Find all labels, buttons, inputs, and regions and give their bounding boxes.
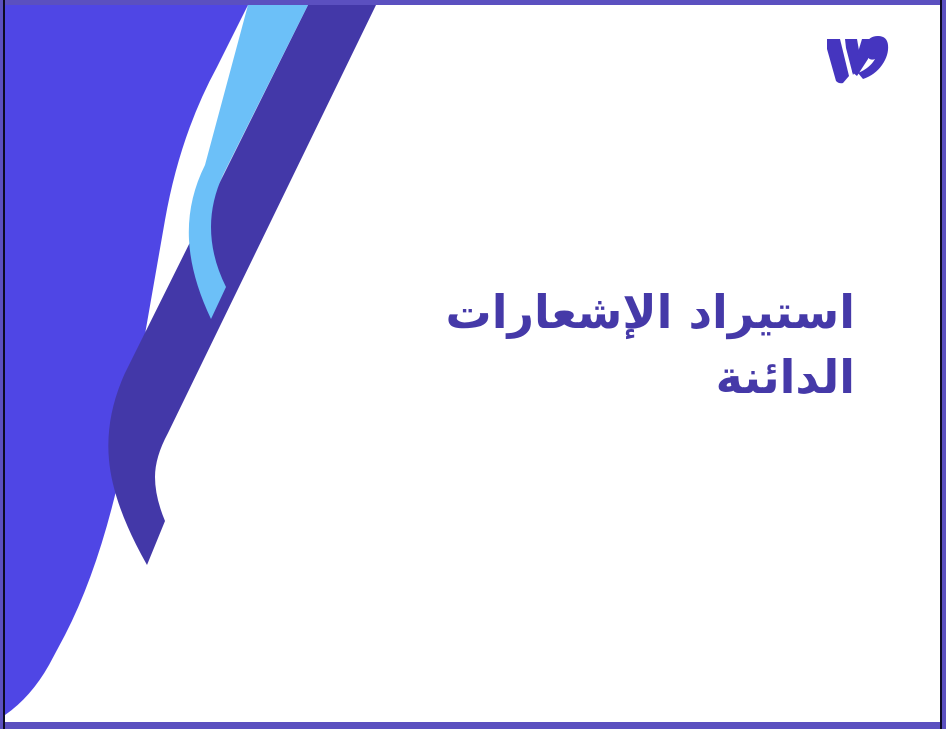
shape-sky-accent [189,5,308,319]
brand-logo-icon [824,32,890,88]
slide-frame: استيراد الإشعارات الدائنة [0,0,946,729]
shape-indigo-ribbon [108,5,376,565]
shape-blue-wedge [5,5,248,715]
slide-canvas: استيراد الإشعارات الدائنة [5,5,940,722]
title-line-1: استيراد الإشعارات [385,280,855,345]
slide-title: استيراد الإشعارات الدائنة [385,280,855,411]
title-line-2: الدائنة [385,345,855,410]
brand-logo [824,32,890,88]
